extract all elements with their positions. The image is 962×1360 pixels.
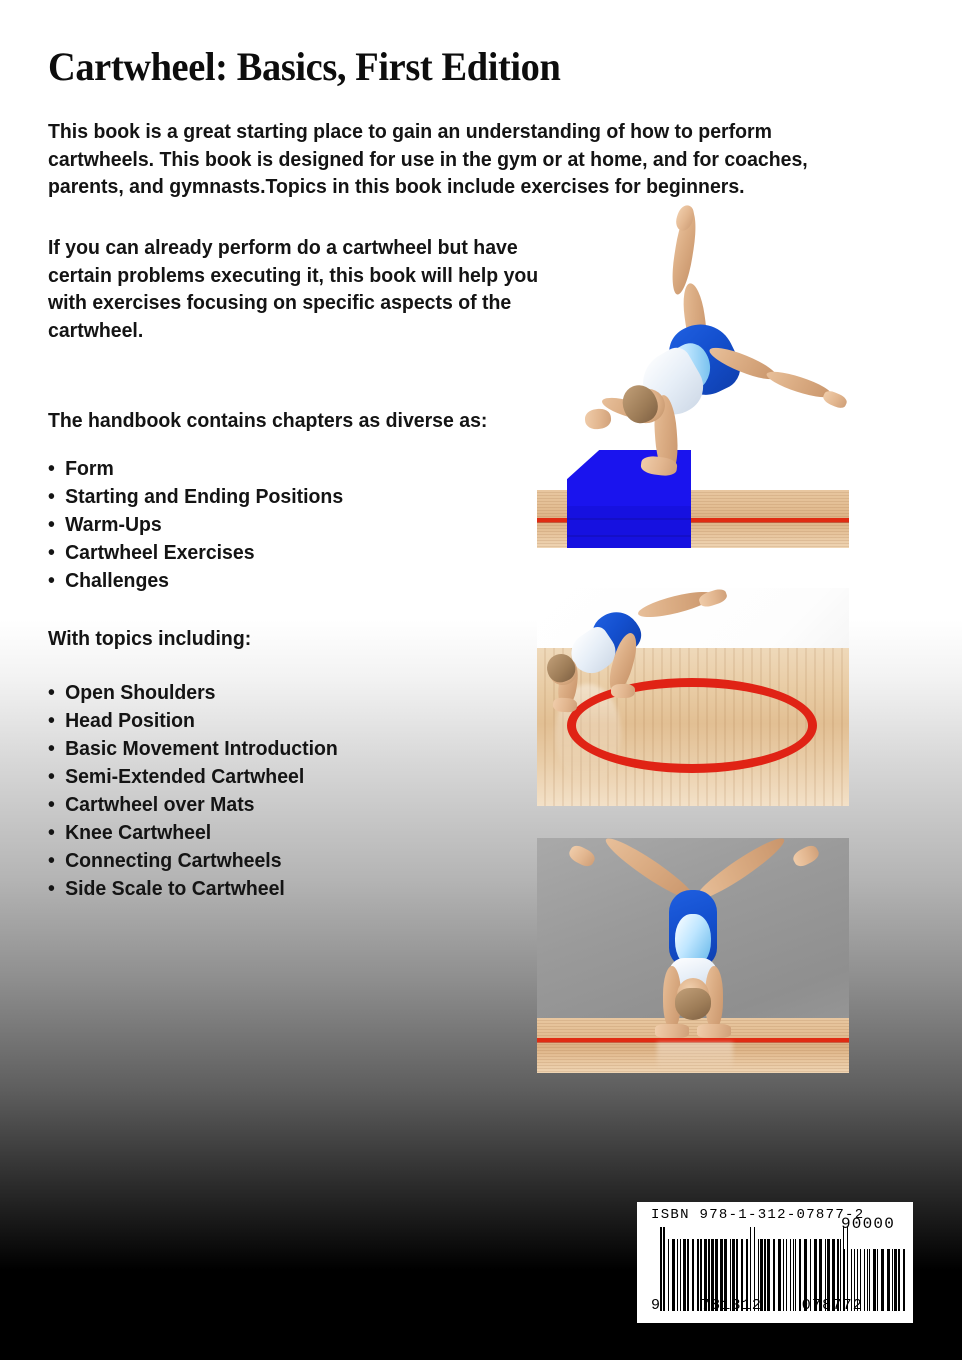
topic-list: Open Shoulders Head Position Basic Movem… [48, 679, 338, 903]
gymnast-support-hand [553, 697, 578, 713]
barcode: ISBN 978-1-312-07877-2 90000 9 781312 07… [637, 1202, 913, 1323]
book-back-cover: Cartwheel: Basics, First Edition This bo… [0, 0, 962, 1360]
floor-reflection [657, 1042, 733, 1070]
chapter-list: Form Starting and Ending Positions Warm-… [48, 455, 343, 595]
list-item: Basic Movement Introduction [48, 735, 338, 763]
chapters-heading: The handbook contains chapters as divers… [48, 407, 487, 434]
isbn-label: ISBN 978-1-312-07877-2 [651, 1207, 864, 1223]
ean-digit-left: 9 [651, 1297, 661, 1314]
list-item: Cartwheel Exercises [48, 539, 343, 567]
gymnast-standing-foot [611, 684, 635, 698]
intro-paragraph-1: This book is a great starting place to g… [48, 118, 837, 201]
ean-digit-group-2: 078772 [802, 1297, 863, 1314]
gymnast-foot-right [791, 843, 821, 869]
gymnast-hand-right [821, 389, 848, 411]
red-circle-marker [567, 678, 817, 773]
list-item: Side Scale to Cartwheel [48, 875, 338, 903]
intro-paragraph-2: If you can already perform do a cartwhee… [48, 234, 580, 344]
page-title: Cartwheel: Basics, First Edition [48, 45, 560, 89]
gymnast-hand-left [655, 1024, 689, 1038]
mat-seam-1 [567, 518, 691, 520]
list-item: Knee Cartwheel [48, 819, 338, 847]
list-item: Connecting Cartwheels [48, 847, 338, 875]
mat-front-face [567, 502, 691, 548]
list-item: Open Shoulders [48, 679, 338, 707]
list-item: Head Position [48, 707, 338, 735]
ean-digits: 9 781312 078772 [651, 1297, 863, 1314]
photo-gymnast-handstand-straddle-on-floor [537, 838, 849, 1073]
topics-heading: With topics including: [48, 625, 251, 652]
ean-digit-group-1: 781312 [701, 1297, 762, 1314]
list-item: Warm-Ups [48, 511, 343, 539]
photo-gymnast-cartwheel-inside-red-circle [537, 588, 849, 806]
barcode-addon-value: 90000 [841, 1215, 895, 1233]
photo-gymnast-cartwheel-over-blue-mat [537, 205, 849, 548]
list-item: Semi-Extended Cartwheel [48, 763, 338, 791]
list-item: Cartwheel over Mats [48, 791, 338, 819]
gymnast-hair [675, 988, 711, 1020]
gymnast-hand-left [584, 408, 612, 431]
list-item: Challenges [48, 567, 343, 595]
gymnast-foot-left [567, 843, 597, 869]
list-item: Starting and Ending Positions [48, 483, 343, 511]
gymnast-hand-right [697, 1024, 731, 1038]
list-item: Form [48, 455, 343, 483]
mat-seam-2 [567, 535, 691, 537]
